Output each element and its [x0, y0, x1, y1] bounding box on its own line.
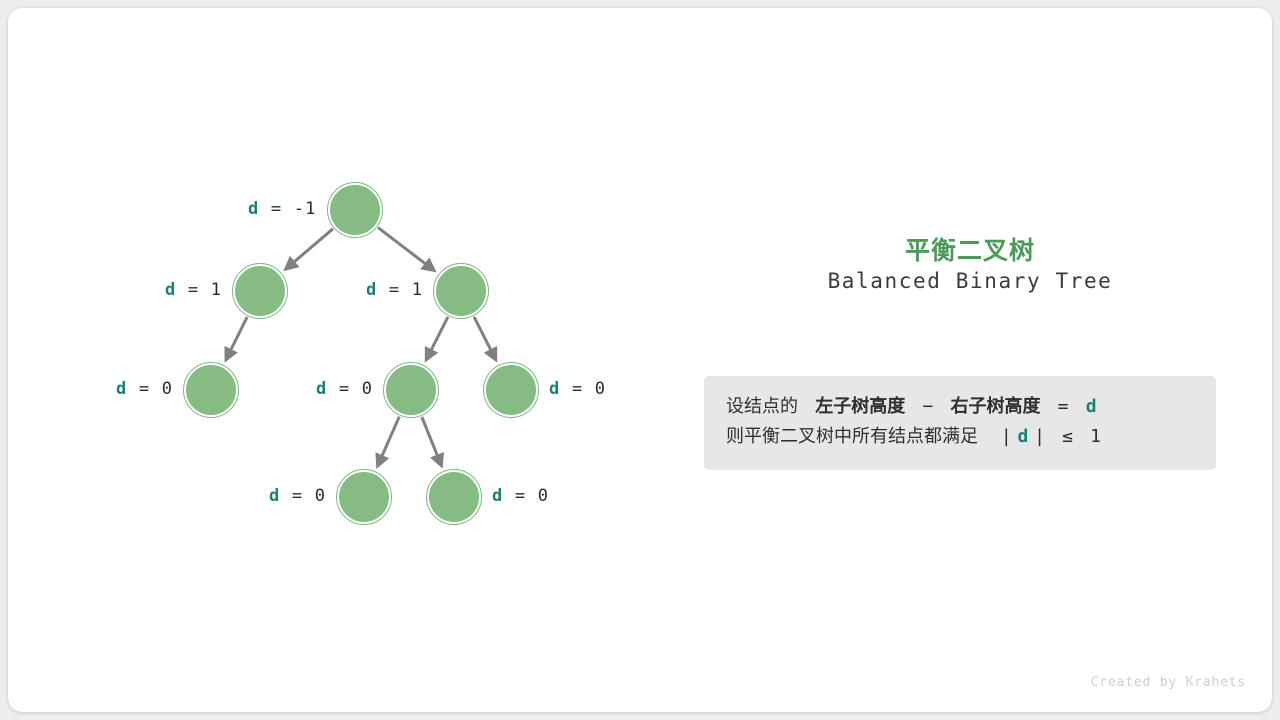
node-balance-label: d = -1 [248, 201, 317, 218]
tree-node[interactable] [184, 363, 238, 417]
tree-diagram-panel: d = -1d = 1d = 1d = 0d = 0d = 0d = 0d = … [8, 8, 668, 712]
node-d-symbol: d [549, 379, 560, 399]
tree-edge [378, 417, 399, 464]
note-equals-sign: = [1058, 396, 1069, 417]
tree-edges-svg [8, 8, 668, 712]
note-prefix-2: 则平衡二叉树中所有结点都满足 [726, 426, 978, 447]
tree-node[interactable] [434, 264, 488, 318]
tree-edge [427, 317, 448, 358]
node-balance-label: d = 0 [116, 381, 173, 398]
tree-edge-group [227, 228, 495, 464]
node-d-symbol: d [165, 280, 176, 300]
info-panel: 平衡二叉树 Balanced Binary Tree 设结点的 左子树高度 − … [668, 8, 1272, 712]
node-balance-label: d = 0 [549, 381, 606, 398]
note-line-2: 则平衡二叉树中所有结点都满足 | d | ≤ 1 [726, 422, 1194, 452]
tree-node[interactable] [337, 470, 391, 524]
note-d-variable-2: d [1018, 426, 1029, 447]
node-balance-label: d = 1 [366, 282, 423, 299]
node-d-value: = 0 [127, 379, 173, 399]
node-d-value: = 1 [377, 280, 423, 300]
node-d-value: = -1 [259, 199, 316, 219]
tree-node[interactable] [484, 363, 538, 417]
note-term-left-subtree-height: 左子树高度 [815, 396, 905, 417]
tree-node[interactable] [427, 470, 481, 524]
node-balance-label: d = 0 [492, 488, 549, 505]
tree-edge [474, 317, 495, 358]
node-d-value: = 0 [503, 486, 549, 506]
page-card: d = -1d = 1d = 1d = 0d = 0d = 0d = 0d = … [8, 8, 1272, 712]
definition-note-box: 设结点的 左子树高度 − 右子树高度 = d 则平衡二叉树中所有结点都满足 | … [704, 376, 1216, 470]
tree-node[interactable] [328, 183, 382, 237]
note-minus-sign: − [922, 396, 933, 417]
node-d-symbol: d [116, 379, 127, 399]
node-d-symbol: d [366, 280, 377, 300]
title-chinese: 平衡二叉树 [668, 231, 1272, 267]
note-abs-close: | [1034, 426, 1045, 447]
note-d-variable-1: d [1086, 396, 1097, 417]
note-term-right-subtree-height: 右子树高度 [950, 396, 1040, 417]
title-english: Balanced Binary Tree [668, 269, 1272, 293]
node-d-value: = 0 [560, 379, 606, 399]
node-d-symbol: d [316, 379, 327, 399]
node-d-symbol: d [269, 486, 280, 506]
node-balance-label: d = 0 [269, 488, 326, 505]
note-prefix-1: 设结点的 [726, 396, 798, 417]
tree-edge [378, 228, 432, 270]
node-d-symbol: d [248, 199, 259, 219]
note-less-equal-sign: ≤ [1062, 426, 1073, 447]
node-d-symbol: d [492, 486, 503, 506]
node-d-value: = 0 [327, 379, 373, 399]
note-line-1: 设结点的 左子树高度 − 右子树高度 = d [726, 392, 1194, 422]
note-abs-open: | [1001, 426, 1012, 447]
note-bound-value: 1 [1090, 426, 1101, 447]
node-balance-label: d = 1 [165, 282, 222, 299]
tree-edge [422, 417, 441, 464]
node-d-value: = 1 [176, 280, 222, 300]
tree-edge [227, 317, 247, 358]
tree-node[interactable] [233, 264, 287, 318]
node-balance-label: d = 0 [316, 381, 373, 398]
credit-text: Created by Krahets [1091, 675, 1246, 690]
tree-node[interactable] [384, 363, 438, 417]
node-d-value: = 0 [280, 486, 326, 506]
tree-edge [287, 229, 333, 268]
